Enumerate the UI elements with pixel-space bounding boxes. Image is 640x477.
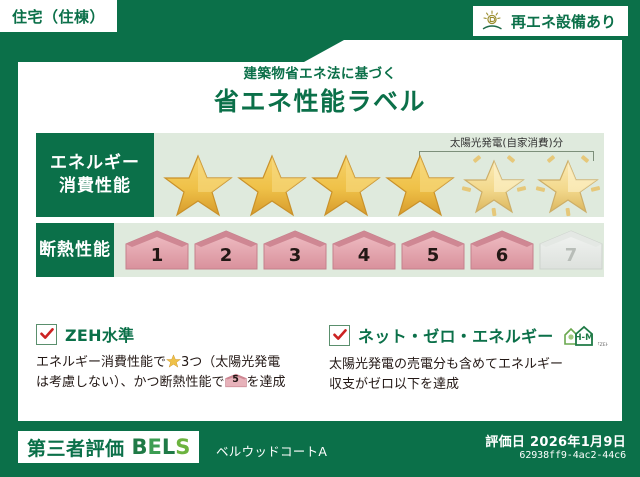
insulation-row-body: 1 2 bbox=[114, 223, 604, 277]
insulation-label-text: 断熱性能 bbox=[39, 239, 111, 262]
label-footer: 第三者評価 BELS ベルウッドコートA 評価日 2026年1月9日 62938… bbox=[0, 421, 640, 477]
insulation-badge-number: 2 bbox=[193, 245, 259, 266]
label-panel: 建築物省エネ法に基づく 省エネ性能ラベル エネルギー 消費性能 太陽光発電(自家… bbox=[18, 40, 622, 421]
insulation-badge: 1 bbox=[124, 229, 190, 271]
building-type-tag: 住宅（住棟） bbox=[0, 0, 117, 32]
energy-performance-label: 住宅（住棟） 再エネ設備あり 建築物省エネ法に基づく 省エネ性能ラベル bbox=[0, 0, 640, 477]
solar-annotation-text: 太陽光発電(自家消費)分 bbox=[419, 135, 594, 150]
zeh-m-caption: 「ZEH-M」 bbox=[595, 342, 608, 348]
zeh-desc-part2: は考慮しない）、かつ断熱性能で bbox=[36, 375, 225, 390]
solar-star-icon bbox=[458, 149, 530, 217]
net-zero-energy-check: ネット・ゼロ・エネルギー H-M 「ZEH-M」 太陽光発電の売電分も含めてエネ… bbox=[329, 322, 610, 395]
rating-rows: エネルギー 消費性能 太陽光発電(自家消費)分 bbox=[36, 133, 604, 283]
nze-check-header: ネット・ゼロ・エネルギー H-M 「ZEH-M」 bbox=[329, 322, 610, 348]
zeh-check-description: エネルギー消費性能で3つ（太陽光発電 は考慮しない）、かつ断熱性能で5を達成 bbox=[36, 353, 317, 393]
zeh-check-title: ZEH水準 bbox=[65, 322, 134, 346]
evaluation-date-value: 2026年1月9日 bbox=[530, 435, 626, 450]
insulation-badge: 2 bbox=[193, 229, 259, 271]
bels-certification-box: 第三者評価 BELS bbox=[18, 431, 199, 463]
nze-desc-line2: 収支がゼロ以下を達成 bbox=[329, 377, 459, 392]
star-icon bbox=[236, 149, 308, 217]
nze-desc-line1: 太陽光発電の売電分も含めてエネルギー bbox=[329, 357, 563, 372]
zeh-desc-part3: を達成 bbox=[247, 375, 286, 390]
achievement-checks: ZEH水準 エネルギー消費性能で3つ（太陽光発電 は考慮しない）、かつ断熱性能で… bbox=[36, 322, 610, 395]
evaluation-date: 評価日 2026年1月9日 bbox=[485, 431, 626, 450]
inline-star-icon bbox=[166, 353, 181, 368]
insulation-badge: 4 bbox=[331, 229, 397, 271]
nze-check-description: 太陽光発電の売電分も含めてエネルギー 収支がゼロ以下を達成 bbox=[329, 355, 610, 395]
renewable-energy-badge: 再エネ設備あり bbox=[473, 6, 628, 36]
energy-row-label: エネルギー 消費性能 bbox=[36, 133, 154, 217]
inline-badge-number: 5 bbox=[225, 373, 247, 388]
insulation-performance-row: 断熱性能 1 bbox=[36, 223, 604, 277]
evaluation-id: 62938ff9-4ac2-44c6 bbox=[519, 450, 626, 461]
checkbox-checked-icon bbox=[36, 324, 57, 345]
checkbox-checked-icon bbox=[329, 325, 350, 346]
insulation-badge-number: 6 bbox=[469, 245, 535, 266]
third-party-eval-label: 第三者評価 bbox=[27, 434, 125, 461]
zeh-desc-part1: エネルギー消費性能で bbox=[36, 355, 166, 370]
insulation-badge: 3 bbox=[262, 229, 328, 271]
star-icon bbox=[310, 149, 382, 217]
insulation-badge: 6 bbox=[469, 229, 535, 271]
solar-sun-icon bbox=[481, 10, 505, 32]
insulation-badge-number: 1 bbox=[124, 245, 190, 266]
building-type-text: 住宅（住棟） bbox=[12, 6, 105, 27]
star-icon bbox=[384, 149, 456, 217]
insulation-badge-number: 3 bbox=[262, 245, 328, 266]
insulation-badge-number: 4 bbox=[331, 245, 397, 266]
energy-performance-row: エネルギー 消費性能 太陽光発電(自家消費)分 bbox=[36, 133, 604, 217]
zeh-standard-check: ZEH水準 エネルギー消費性能で3つ（太陽光発電 は考慮しない）、かつ断熱性能で… bbox=[36, 322, 317, 395]
renewable-badge-label: 再エネ設備あり bbox=[511, 11, 616, 32]
label-title: 省エネ性能ラベル bbox=[18, 82, 622, 118]
insulation-badge-number: 5 bbox=[400, 245, 466, 266]
insulation-level-badges: 1 2 bbox=[120, 223, 604, 277]
insulation-badge-number: 7 bbox=[538, 245, 604, 266]
solar-star-icon bbox=[532, 149, 604, 217]
bels-logo-text: BELS bbox=[132, 435, 191, 459]
insulation-badge-inactive: 7 bbox=[538, 229, 604, 271]
evaluation-date-label: 評価日 bbox=[485, 435, 525, 450]
nze-check-title: ネット・ゼロ・エネルギー bbox=[358, 323, 554, 347]
inline-insulation-badge-icon: 5 bbox=[225, 373, 247, 388]
zeh-desc-star-count: 3つ（太陽光発電 bbox=[181, 355, 280, 370]
energy-row-body: 太陽光発電(自家消費)分 bbox=[154, 133, 604, 217]
building-name: ベルウッドコートA bbox=[216, 441, 327, 460]
insulation-badge: 5 bbox=[400, 229, 466, 271]
star-icon bbox=[162, 149, 234, 217]
energy-label-line1: エネルギー bbox=[50, 152, 140, 175]
zeh-m-logo-icon: H-M 「ZEH-M」 bbox=[562, 323, 608, 349]
energy-label-line2: 消費性能 bbox=[59, 175, 131, 198]
zeh-check-header: ZEH水準 bbox=[36, 322, 317, 346]
insulation-row-label: 断熱性能 bbox=[36, 223, 114, 277]
label-subtitle: 建築物省エネ法に基づく bbox=[18, 62, 622, 82]
svg-text:H-M: H-M bbox=[574, 333, 593, 343]
